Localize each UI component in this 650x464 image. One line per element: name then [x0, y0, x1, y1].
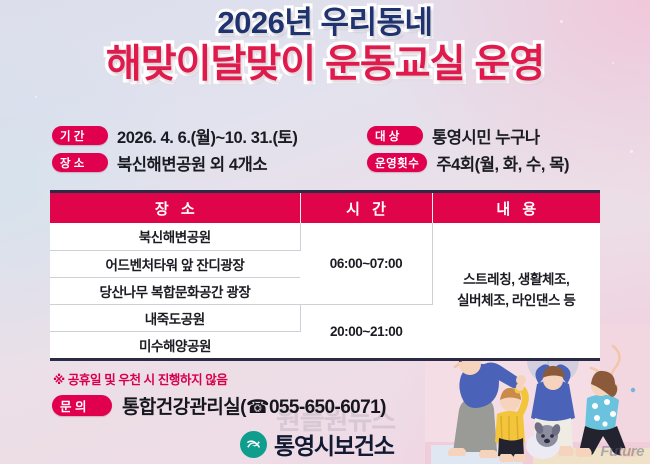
organization-logo: 통영시보건소 — [240, 427, 394, 461]
info-item-frequency: 운영횟수 주4회(월, 화, 수, 목) — [367, 149, 612, 176]
cell-place: 미수해양공원 — [50, 331, 300, 358]
content-line-2: 실버체조, 라인댄스 등 — [457, 293, 575, 308]
title-line-1: 2026년 우리동네 — [0, 6, 650, 41]
contact-label: 문 의 — [52, 395, 112, 416]
table-header-note: 내 용 — [432, 193, 600, 223]
sparkle-dot — [35, 96, 37, 98]
cell-place: 어드벤처타워 앞 잔디광장 — [50, 250, 300, 277]
schedule-table-wrapper: 장 소 시 간 내 용 북신해변공원 06:00~07:00 스트레칭, 생활체… — [50, 190, 600, 361]
table-row: 북신해변공원 06:00~07:00 스트레칭, 생활체조, 실버체조, 라인댄… — [50, 223, 600, 250]
info-value-period: 2026. 4. 6.(월)~10. 31.(토) — [117, 124, 297, 148]
poster-title: 2026년 우리동네 해맞이달맞이 운동교실 운영 — [0, 6, 650, 86]
content-line-1: 스트레칭, 생활체조, — [463, 272, 569, 287]
info-label-period: 기 간 — [52, 126, 108, 145]
info-item-target: 대 상 통영시민 누구나 — [367, 122, 612, 149]
title-line-2: 해맞이달맞이 운동교실 운영 — [0, 43, 650, 87]
cell-time-morning: 06:00~07:00 — [300, 223, 432, 304]
contact-row: 문 의 통합건강관리실(☎055-650-6071) — [52, 392, 386, 419]
contact-value: 통합건강관리실(☎055-650-6071) — [122, 392, 386, 419]
disclaimer-note: ※ 공휴일 및 우천 시 진행하지 않음 — [53, 369, 228, 388]
organization-name: 통영시보건소 — [274, 427, 394, 461]
info-value-place: 북신해변공원 외 4개소 — [117, 151, 267, 175]
schedule-table: 장 소 시 간 내 용 북신해변공원 06:00~07:00 스트레칭, 생활체… — [50, 193, 600, 358]
table-header-time: 시 간 — [300, 193, 432, 223]
cell-place: 당산나무 복합문화공간 광장 — [50, 277, 300, 304]
table-header-place: 장 소 — [50, 193, 300, 223]
info-summary: 기 간 2026. 4. 6.(월)~10. 31.(토) 대 상 통영시민 누… — [52, 122, 612, 176]
info-label-frequency: 운영횟수 — [367, 153, 427, 172]
info-value-frequency: 주4회(월, 화, 수, 목) — [436, 151, 569, 175]
info-label-target: 대 상 — [367, 126, 423, 145]
cell-place: 내죽도공원 — [50, 304, 300, 331]
info-label-place: 장 소 — [52, 153, 108, 172]
sparkle-dot — [630, 150, 633, 153]
info-value-target: 통영시민 누구나 — [432, 124, 540, 148]
table-header-row: 장 소 시 간 내 용 — [50, 193, 600, 223]
info-item-place: 장 소 북신해변공원 외 4개소 — [52, 149, 367, 176]
cell-place: 북신해변공원 — [50, 223, 300, 250]
cell-content: 스트레칭, 생활체조, 실버체조, 라인댄스 등 — [432, 223, 600, 358]
brand-mark-text: Future — [600, 443, 644, 460]
info-item-period: 기 간 2026. 4. 6.(월)~10. 31.(토) — [52, 122, 367, 149]
health-center-emblem-icon — [240, 431, 267, 458]
poster-background: 2026년 우리동네 해맞이달맞이 운동교실 운영 기 간 2026. 4. 6… — [0, 0, 650, 464]
cell-time-evening: 20:00~21:00 — [300, 304, 432, 358]
